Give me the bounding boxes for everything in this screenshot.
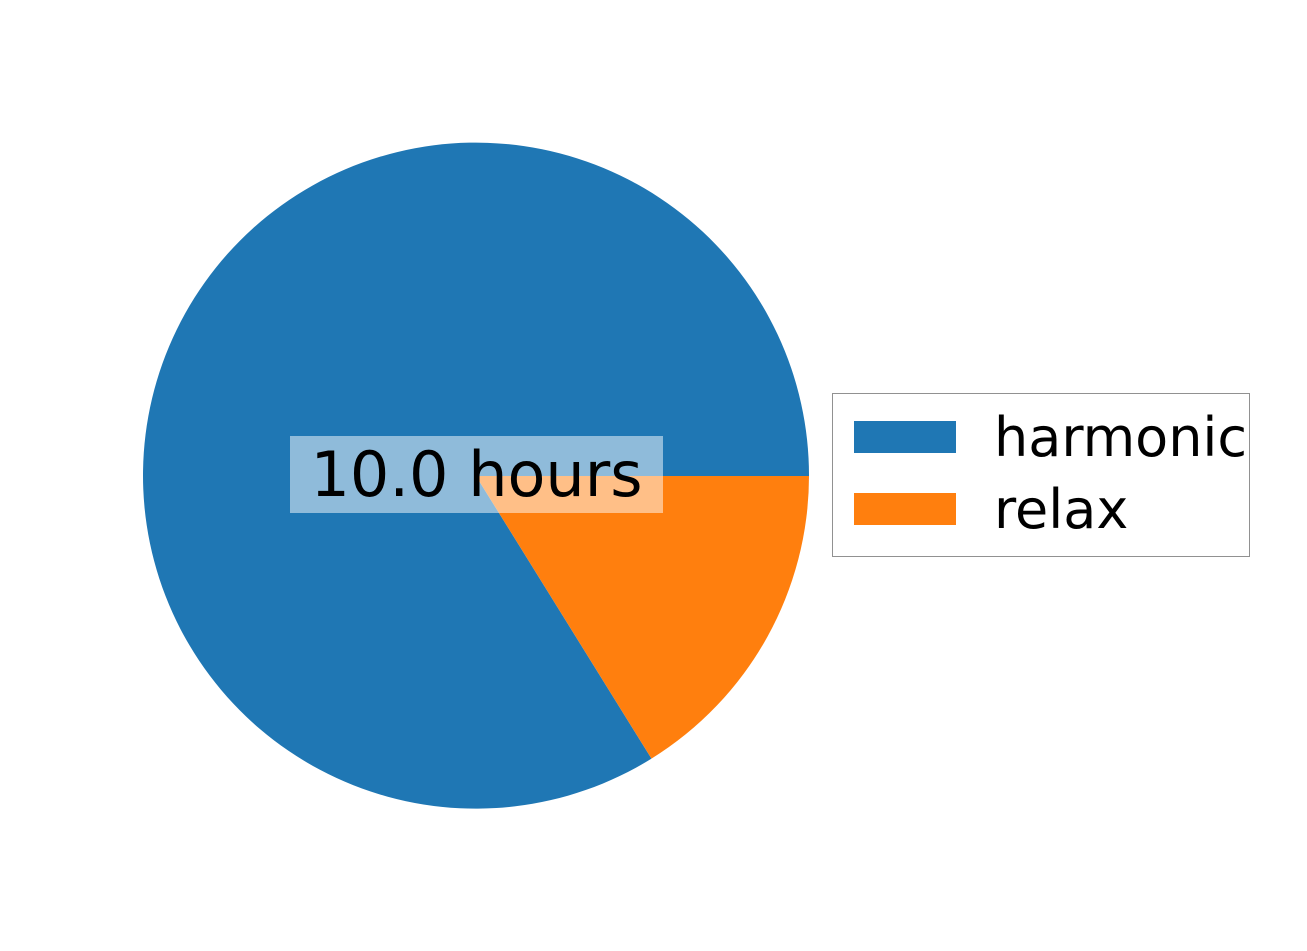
chart-legend: harmonic relax	[832, 393, 1250, 557]
legend-swatch-harmonic	[854, 421, 956, 453]
legend-label-harmonic: harmonic	[994, 402, 1247, 474]
legend-item-harmonic[interactable]: harmonic	[833, 411, 1249, 483]
legend-item-relax[interactable]: relax	[833, 483, 1249, 555]
pie-slice-value-label-harmonic: 10.0 hours	[290, 436, 663, 513]
legend-swatch-relax	[854, 493, 956, 525]
legend-label-relax: relax	[994, 474, 1128, 546]
pie-chart-figure: 10.0 hours harmonic relax	[0, 0, 1307, 951]
